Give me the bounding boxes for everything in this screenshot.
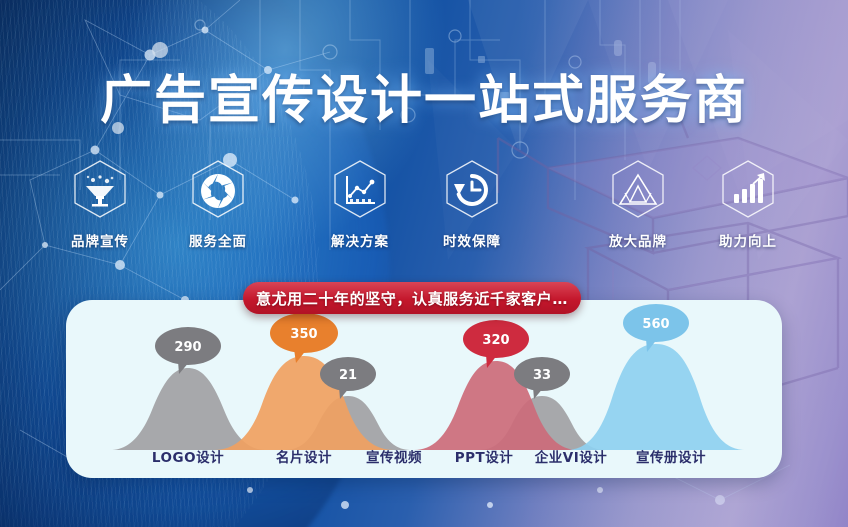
mountain-0 <box>110 368 266 450</box>
feature-item-growth[interactable]: 助力向上 <box>700 158 796 250</box>
value-label: 33 <box>533 368 551 383</box>
feature-label: 助力向上 <box>700 230 796 250</box>
feature-row: 品牌宣传 服务全面 <box>0 158 848 250</box>
line-chart-icon <box>327 158 393 224</box>
chart-card: 290 350 21 320 <box>66 300 782 478</box>
value-bubble-3: 320 <box>463 320 529 368</box>
value-label: 290 <box>174 340 201 355</box>
value-label: 350 <box>290 327 317 342</box>
feature-label: 放大品牌 <box>590 230 686 250</box>
feature-item-brand[interactable]: 品牌宣传 <box>52 158 148 250</box>
slogan-text: 意尤用二十年的坚守，认真服务近千家客户… <box>256 288 568 309</box>
slogan-ribbon: 意尤用二十年的坚守，认真服务近千家客户… <box>243 282 581 314</box>
growth-bar-icon <box>715 158 781 224</box>
aperture-icon <box>185 158 251 224</box>
feature-label: 品牌宣传 <box>52 230 148 250</box>
feature-item-service[interactable]: 服务全面 <box>170 158 266 250</box>
feature-label: 解决方案 <box>312 230 408 250</box>
feature-item-solution[interactable]: 解决方案 <box>312 158 408 250</box>
category-label-5: 宣传册设计 <box>601 446 741 466</box>
value-label: 320 <box>482 333 509 348</box>
megaphone-icon <box>67 158 133 224</box>
category-label-0: LOGO设计 <box>128 446 248 466</box>
clock-rewind-icon <box>439 158 505 224</box>
value-bubble-1: 350 <box>270 313 338 363</box>
triangle-pyramid-icon <box>605 158 671 224</box>
feature-item-timeliness[interactable]: 时效保障 <box>424 158 520 250</box>
page-title: 广告宣传设计一站式服务商 <box>0 58 848 133</box>
value-bubble-0: 290 <box>155 327 221 374</box>
category-labels: LOGO设计 名片设计 宣传视频 PPT设计 企业VI设计 宣传册设计 <box>66 446 782 468</box>
feature-item-amplify[interactable]: 放大品牌 <box>590 158 686 250</box>
feature-label: 时效保障 <box>424 230 520 250</box>
poster-stage: 广告宣传设计一站式服务商 品牌宣传 <box>0 0 848 527</box>
mountain-5 <box>566 344 746 450</box>
value-label: 21 <box>339 368 357 383</box>
value-label: 560 <box>642 317 669 332</box>
feature-label: 服务全面 <box>170 230 266 250</box>
